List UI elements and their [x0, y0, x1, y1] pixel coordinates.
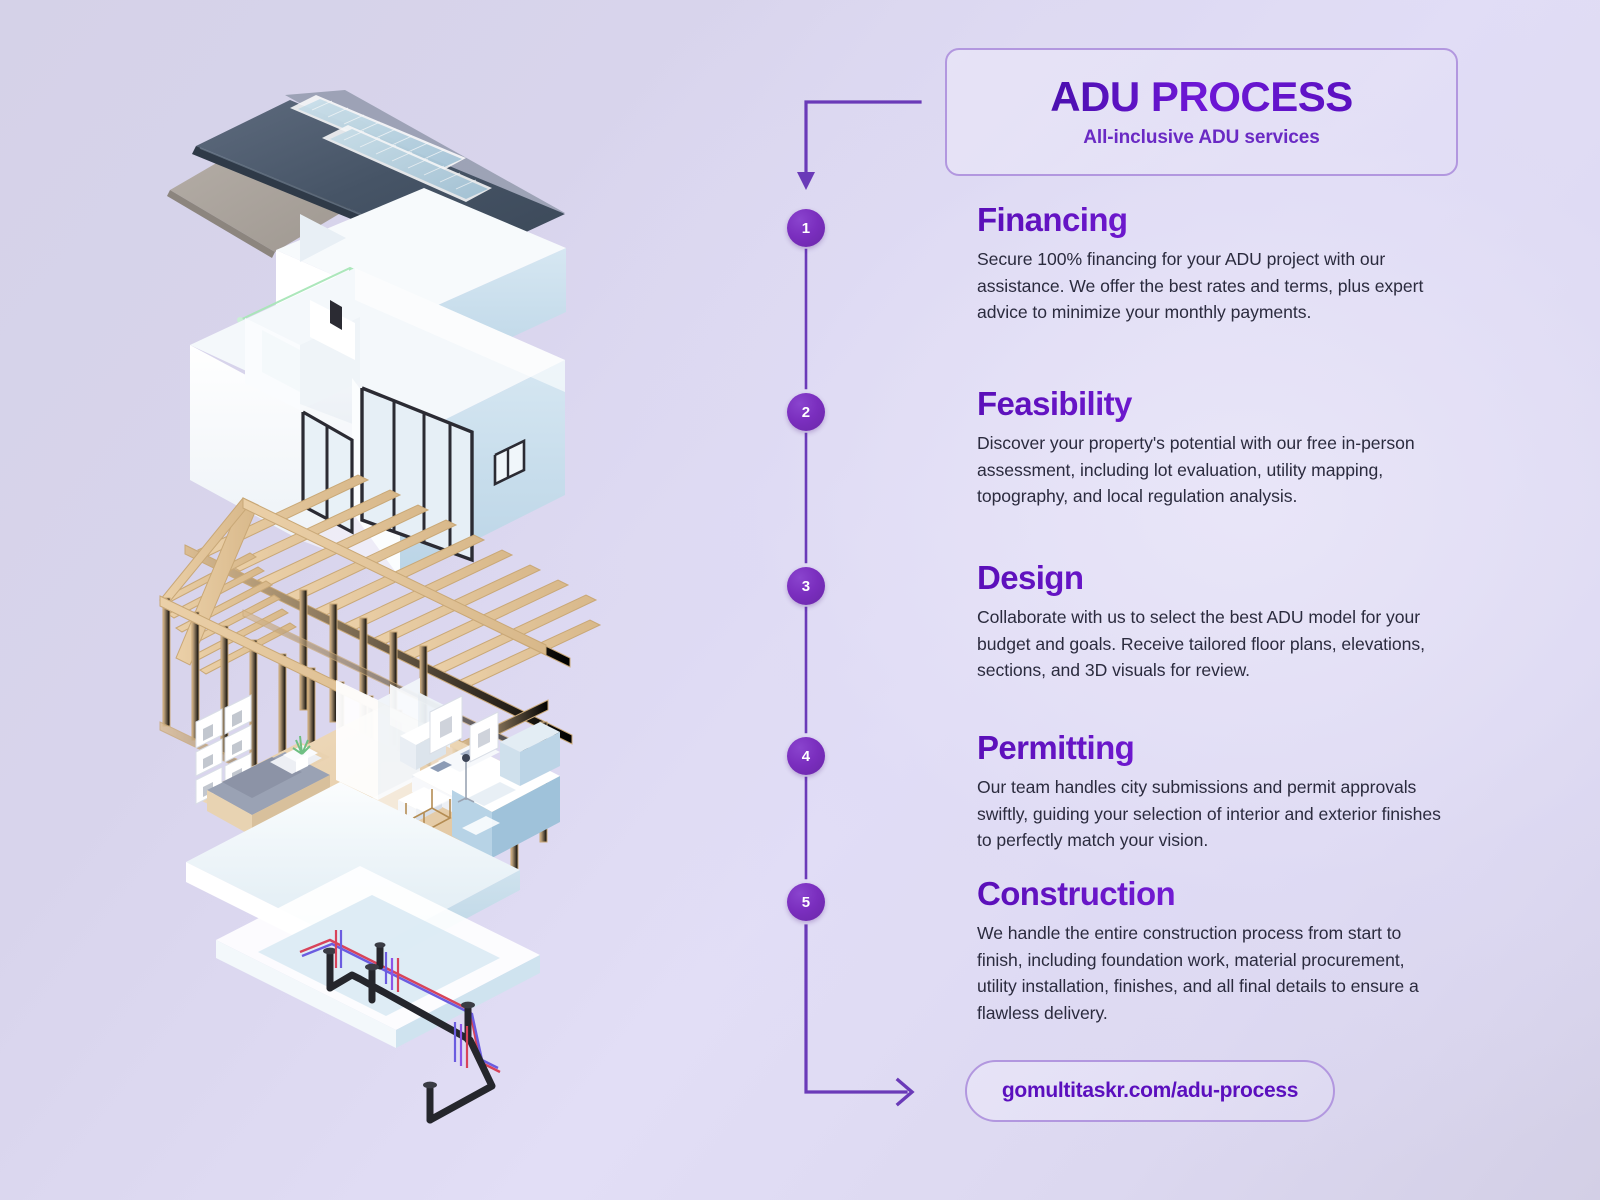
website-url-pill[interactable]: gomultitaskr.com/adu-process: [965, 1060, 1335, 1122]
step-title: Construction: [977, 876, 1447, 913]
step-number: 3: [802, 578, 811, 595]
step-body: Our team handles city submissions and pe…: [977, 774, 1447, 854]
timeline-top-connector: [806, 102, 920, 176]
step-body: Collaborate with us to select the best A…: [977, 604, 1447, 684]
step-node-3[interactable]: 3: [787, 567, 825, 605]
timeline-bottom-connector: [806, 926, 906, 1092]
step-title: Financing: [977, 202, 1447, 239]
step-node-2[interactable]: 2: [787, 393, 825, 431]
process-content: ADU PROCESS All-inclusive ADU services F…: [945, 0, 1600, 1200]
title-card: ADU PROCESS All-inclusive ADU services: [945, 48, 1458, 176]
step-number: 2: [802, 404, 811, 421]
adu-process-infographic: 1 2 3 4 5 ADU PROCESS All-inclusive ADU …: [0, 0, 1600, 1200]
step-body: Discover your property's potential with …: [977, 430, 1447, 510]
process-timeline: 1 2 3 4 5: [760, 0, 960, 1200]
step-title: Feasibility: [977, 386, 1447, 423]
exploded-adu-3d-diagram: [0, 0, 760, 1200]
step-item-permitting: Permitting Our team handles city submiss…: [977, 730, 1447, 854]
step-item-design: Design Collaborate with us to select the…: [977, 560, 1447, 684]
arrow-down-icon: [797, 172, 815, 190]
step-body: Secure 100% financing for your ADU proje…: [977, 246, 1447, 326]
step-title: Design: [977, 560, 1447, 597]
step-item-feasibility: Feasibility Discover your property's pot…: [977, 386, 1447, 510]
step-number: 5: [802, 894, 811, 911]
page-title: ADU PROCESS: [1050, 75, 1353, 119]
step-item-construction: Construction We handle the entire constr…: [977, 876, 1447, 1027]
step-node-5[interactable]: 5: [787, 883, 825, 921]
website-url: gomultitaskr.com/adu-process: [1002, 1079, 1298, 1103]
page-subtitle: All-inclusive ADU services: [1083, 127, 1319, 149]
step-title: Permitting: [977, 730, 1447, 767]
step-item-financing: Financing Secure 100% financing for your…: [977, 202, 1447, 326]
step-number: 1: [802, 220, 811, 237]
step-number: 4: [802, 748, 811, 765]
step-node-4[interactable]: 4: [787, 737, 825, 775]
step-body: We handle the entire construction proces…: [977, 920, 1447, 1027]
step-node-1[interactable]: 1: [787, 209, 825, 247]
